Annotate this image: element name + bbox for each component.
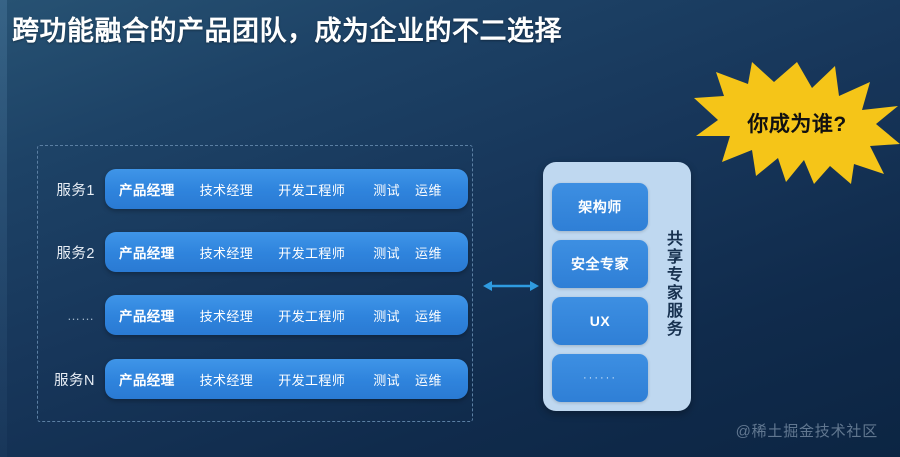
- service-row-label: 服务2: [37, 242, 105, 263]
- expert-chip-security[interactable]: 安全专家: [552, 240, 648, 288]
- role-developer: 开发工程师: [278, 370, 345, 389]
- role-tech-manager: 技术经理: [200, 180, 254, 199]
- service-row-label: 服务1: [37, 179, 105, 200]
- role-ops: 运维: [415, 180, 442, 199]
- role-developer: 开发工程师: [278, 243, 345, 262]
- role-developer: 开发工程师: [278, 306, 345, 325]
- role-tech-manager: 技术经理: [200, 243, 254, 262]
- role-tech-manager: 技术经理: [200, 306, 254, 325]
- service-row: …… 产品经理 技术经理 开发工程师 测试 运维: [37, 295, 468, 335]
- shared-expert-panel: 架构师 安全专家 UX ······ 共享专家服务: [543, 162, 691, 411]
- page-title: 跨功能融合的产品团队，成为企业的不二选择: [12, 14, 562, 48]
- starburst-label: 你成为谁?: [694, 62, 900, 184]
- double-arrow-icon: [483, 279, 539, 293]
- role-ops: 运维: [415, 306, 442, 325]
- role-tester: 测试: [373, 180, 400, 199]
- service-row: 服务2 产品经理 技术经理 开发工程师 测试 运维: [37, 232, 468, 272]
- role-product-manager: 产品经理: [119, 242, 175, 262]
- role-pill[interactable]: 产品经理 技术经理 开发工程师 测试 运维: [105, 359, 468, 399]
- role-ops: 运维: [415, 243, 442, 262]
- expert-chip-ux[interactable]: UX: [552, 297, 648, 345]
- service-row-label: 服务N: [37, 369, 105, 390]
- role-tech-manager: 技术经理: [200, 370, 254, 389]
- role-developer: 开发工程师: [278, 180, 345, 199]
- role-pill[interactable]: 产品经理 技术经理 开发工程师 测试 运维: [105, 232, 468, 272]
- service-row-label: ……: [37, 308, 105, 323]
- role-ops: 运维: [415, 370, 442, 389]
- role-pill[interactable]: 产品经理 技术经理 开发工程师 测试 运维: [105, 169, 468, 209]
- role-product-manager: 产品经理: [119, 179, 175, 199]
- role-tester: 测试: [373, 370, 400, 389]
- starburst-callout: 你成为谁?: [694, 62, 900, 184]
- expert-chip-architect[interactable]: 架构师: [552, 183, 648, 231]
- role-product-manager: 产品经理: [119, 369, 175, 389]
- role-pill[interactable]: 产品经理 技术经理 开发工程师 测试 运维: [105, 295, 468, 335]
- role-tester: 测试: [373, 243, 400, 262]
- role-product-manager: 产品经理: [119, 305, 175, 325]
- role-tester: 测试: [373, 306, 400, 325]
- watermark: @稀土掘金技术社区: [736, 420, 878, 441]
- shared-expert-panel-label: 共享专家服务: [658, 230, 682, 338]
- service-row: 服务N 产品经理 技术经理 开发工程师 测试 运维: [37, 359, 468, 399]
- expert-chip-more[interactable]: ······: [552, 354, 648, 402]
- slide-canvas: 跨功能融合的产品团队，成为企业的不二选择 服务1 产品经理 技术经理 开发工程师…: [0, 0, 900, 457]
- service-row: 服务1 产品经理 技术经理 开发工程师 测试 运维: [37, 169, 468, 209]
